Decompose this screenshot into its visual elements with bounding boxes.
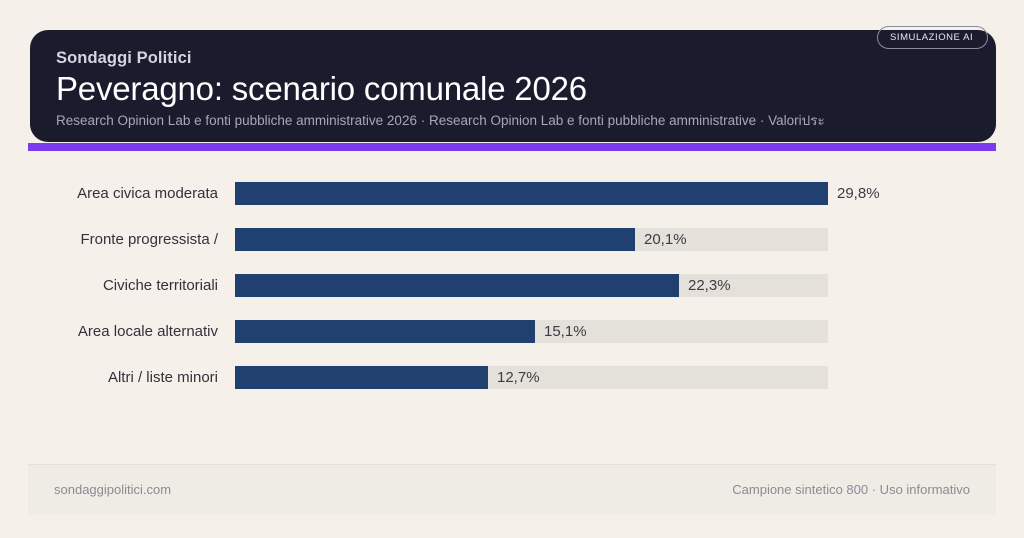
bar-track xyxy=(235,228,828,251)
bar-fill xyxy=(235,274,679,297)
bar-category-label: Fronte progressista / xyxy=(30,217,218,263)
status-badge: SIMULAZIONE AI xyxy=(877,26,988,49)
bar-fill xyxy=(235,182,828,205)
page-title: Peveragno: scenario comunale 2026 xyxy=(56,68,970,110)
header-card: Sondaggi Politici Peveragno: scenario co… xyxy=(30,30,996,142)
bar-track xyxy=(235,182,828,205)
bar-category-label: Area civica moderata xyxy=(30,171,218,217)
status-badge-label: SIMULAZIONE AI xyxy=(890,32,973,43)
bar-category-label: Area locale alternativ xyxy=(30,309,218,355)
bar-row: Area civica moderata29,8% xyxy=(0,171,1024,217)
footer-note-label: Campione sintetico 800 · Uso informativo xyxy=(732,482,970,497)
bar-value-label: 22,3% xyxy=(688,274,731,297)
bar-category-label: Altri / liste minori xyxy=(30,355,218,401)
bar-fill xyxy=(235,320,535,343)
accent-divider xyxy=(28,143,996,151)
bar-value-label: 20,1% xyxy=(644,228,687,251)
footer: sondaggipolitici.com Campione sintetico … xyxy=(28,464,996,514)
bar-row: Altri / liste minori12,7% xyxy=(0,355,1024,401)
footer-site-label: sondaggipolitici.com xyxy=(54,482,171,497)
bar-row: Area locale alternativ15,1% xyxy=(0,309,1024,355)
bar-fill xyxy=(235,366,488,389)
bar-value-label: 15,1% xyxy=(544,320,587,343)
bar-row: Fronte progressista /20,1% xyxy=(0,217,1024,263)
bar-value-label: 29,8% xyxy=(837,182,880,205)
brand-kicker: Sondaggi Politici xyxy=(56,48,970,68)
bar-value-label: 12,7% xyxy=(497,366,540,389)
bar-category-label: Civiche territoriali xyxy=(30,263,218,309)
bar-fill xyxy=(235,228,635,251)
page-subtitle: Research Opinion Lab e fonti pubbliche a… xyxy=(56,111,970,130)
bar-track xyxy=(235,274,828,297)
bar-track xyxy=(235,320,828,343)
bar-chart: Area civica moderata29,8%Fronte progress… xyxy=(0,171,1024,401)
bar-row: Civiche territoriali22,3% xyxy=(0,263,1024,309)
